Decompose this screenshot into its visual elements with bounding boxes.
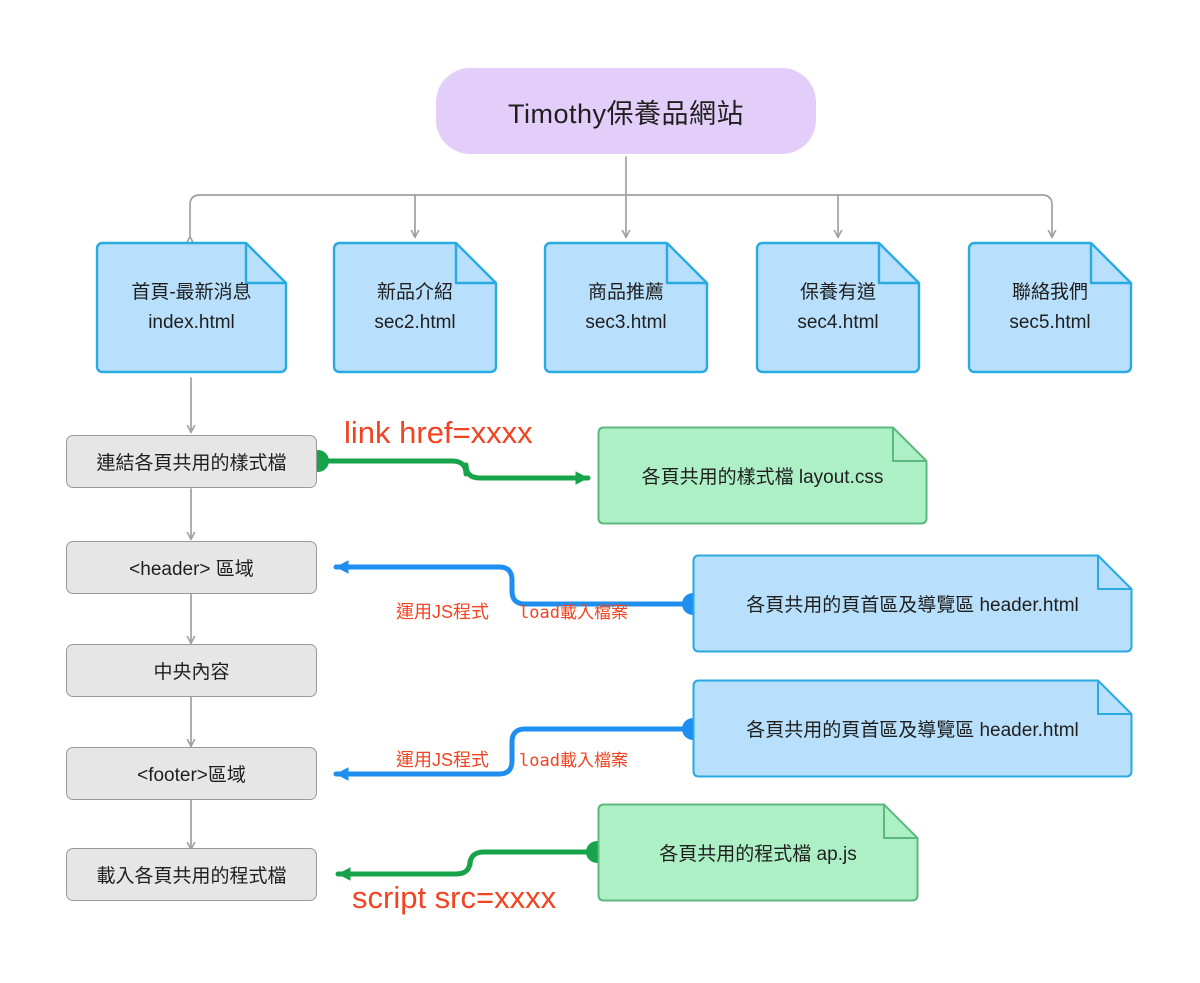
asset-node-layout-css[interactable]: 各頁共用的樣式檔 layout.css	[596, 425, 929, 526]
page-node-sec5[interactable]: 聯絡我們 sec5.html	[966, 240, 1134, 375]
page-label-group: 聯絡我們 sec5.html	[966, 240, 1134, 375]
page-label-group: 首頁-最新消息 index.html	[94, 240, 289, 375]
step-link-stylesheet[interactable]: 連結各頁共用的樣式檔	[66, 435, 317, 488]
page-name: 新品介紹	[377, 278, 453, 307]
step-header-region[interactable]: <header> 區域	[66, 541, 317, 594]
page-name: 商品推薦	[588, 278, 664, 307]
architecture-diagram: Timothy保養品網站 首頁-最新消息 index.html 新品介紹 sec…	[0, 0, 1200, 983]
page-file: sec4.html	[797, 308, 878, 337]
edge-label-js-header: 運用JS程式	[396, 598, 489, 624]
css-link-connector	[322, 461, 588, 478]
page-node-sec3[interactable]: 商品推薦 sec3.html	[542, 240, 710, 375]
step-label: <header> 區域	[129, 554, 254, 581]
edge-label-load-footer: load載入檔案	[519, 746, 628, 771]
edge-label-js-footer: 運用JS程式	[396, 746, 489, 772]
page-file: sec3.html	[585, 308, 666, 337]
page-name: 首頁-最新消息	[131, 278, 251, 307]
page-node-sec2[interactable]: 新品介紹 sec2.html	[331, 240, 499, 375]
site-title-label: Timothy保養品網站	[508, 92, 744, 131]
page-label-group: 保養有道 sec4.html	[754, 240, 922, 375]
step-load-script[interactable]: 載入各頁共用的程式檔	[66, 848, 317, 901]
asset-label: 各頁共用的樣式檔 layout.css	[596, 425, 929, 526]
step-label: 連結各頁共用的樣式檔	[96, 448, 286, 475]
edge-label-script-src: script src=xxxx	[352, 880, 556, 916]
page-file: index.html	[148, 308, 235, 337]
edge-label-link-href: link href=xxxx	[344, 415, 533, 451]
asset-label: 各頁共用的程式檔 ap.js	[596, 802, 920, 903]
page-file: sec5.html	[1009, 308, 1090, 337]
step-label: 中央內容	[153, 657, 229, 684]
page-name: 保養有道	[800, 278, 876, 307]
header-load-connector	[336, 567, 691, 604]
page-node-sec4[interactable]: 保養有道 sec4.html	[754, 240, 922, 375]
asset-label: 各頁共用的頁首區及導覽區 header.html	[691, 678, 1134, 779]
page-file: sec2.html	[374, 308, 455, 337]
page-node-index[interactable]: 首頁-最新消息 index.html	[94, 240, 289, 375]
step-footer-region[interactable]: <footer>區域	[66, 747, 317, 800]
tree-connectors	[190, 157, 1052, 237]
page-label-group: 商品推薦 sec3.html	[542, 240, 710, 375]
step-main-content[interactable]: 中央內容	[66, 644, 317, 697]
page-label-group: 新品介紹 sec2.html	[331, 240, 499, 375]
asset-node-ap-js[interactable]: 各頁共用的程式檔 ap.js	[596, 802, 920, 903]
page-name: 聯絡我們	[1012, 278, 1088, 307]
asset-node-header-html-bottom[interactable]: 各頁共用的頁首區及導覽區 header.html	[691, 678, 1134, 779]
step-label: <footer>區域	[137, 760, 246, 787]
script-src-connector	[338, 852, 593, 874]
step-label: 載入各頁共用的程式檔	[96, 861, 286, 888]
asset-node-header-html-top[interactable]: 各頁共用的頁首區及導覽區 header.html	[691, 553, 1134, 654]
asset-label: 各頁共用的頁首區及導覽區 header.html	[691, 553, 1134, 654]
edge-label-load-header: load載入檔案	[519, 598, 628, 623]
site-title-node[interactable]: Timothy保養品網站	[436, 68, 816, 154]
footer-load-connector	[336, 729, 691, 774]
